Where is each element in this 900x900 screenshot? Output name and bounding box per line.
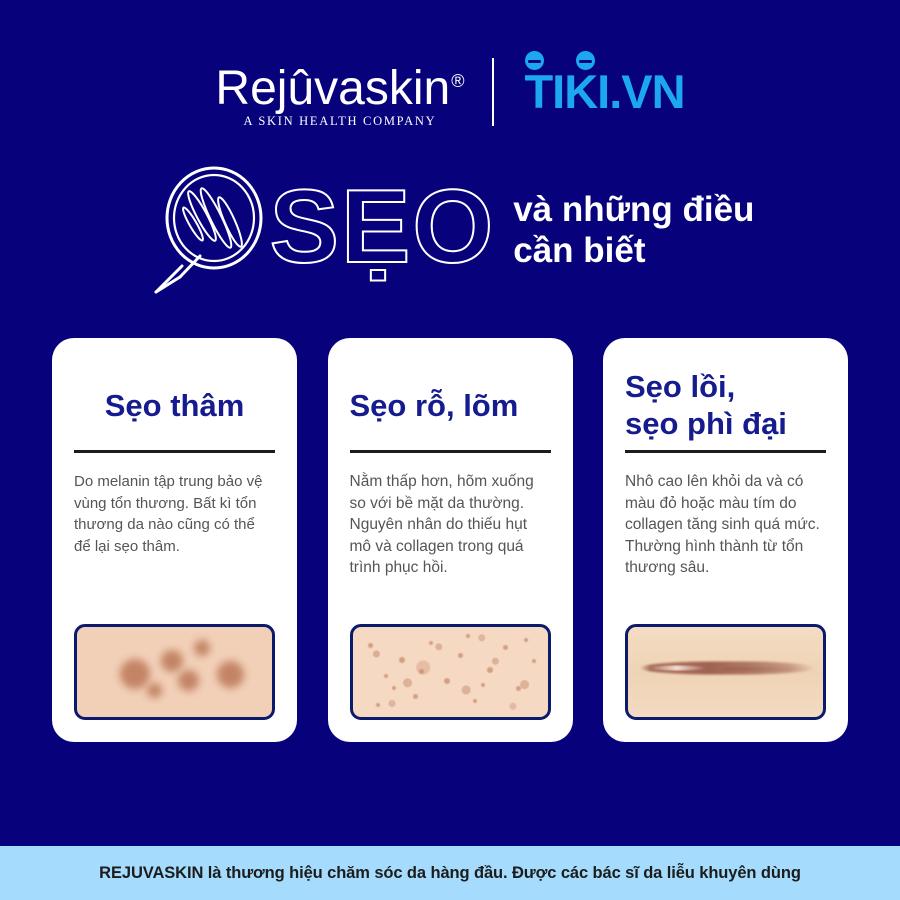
scar-card-dark-spot[interactable]: Sẹo thâm Do melanin tập trung bảo vệ vùn… (52, 338, 297, 742)
registered-trademark-icon: ® (451, 71, 464, 91)
card-title: Sẹo rỗ, lõm (350, 364, 551, 446)
pitted-texture (353, 627, 548, 717)
card-divider (74, 450, 275, 453)
magnifying-glass-icon (146, 166, 264, 294)
card-body-text: Nằm thấp hơn, hõm xuống so với bề mặt da… (350, 471, 551, 624)
card-image-keloid-scar (625, 624, 826, 720)
tiki-wordmark: TIKI.VN (524, 67, 684, 117)
rejuvaskin-tagline: A SKIN HEALTH COMPANY (215, 114, 464, 129)
logo-row: Rejûvaskin® A SKIN HEALTH COMPANY TIKI.V… (0, 42, 900, 142)
card-divider (625, 450, 826, 453)
headline-subtitle-line1: và những điều (513, 189, 754, 230)
card-title-line2: sẹo phì đại (625, 405, 787, 442)
infographic-page: Rejûvaskin® A SKIN HEALTH COMPANY TIKI.V… (0, 0, 900, 900)
card-divider (350, 450, 551, 453)
scar-highlight (648, 666, 707, 671)
headline-subtitle-line2: cần biết (513, 230, 754, 271)
headline-keyword: SẸO (270, 175, 496, 279)
card-title: Sẹo lồi, sẹo phì đại (625, 364, 826, 446)
card-image-dark-spot-scar (74, 624, 275, 720)
footer-text: REJUVASKIN là thương hiệu chăm sóc da hà… (99, 864, 801, 883)
card-title-line1: Sẹo lồi, (625, 368, 787, 405)
scar-card-atrophic[interactable]: Sẹo rỗ, lõm Nằm thấp hơn, hõm xuống so v… (328, 338, 573, 742)
scar-type-card-list: Sẹo thâm Do melanin tập trung bảo vệ vùn… (52, 338, 848, 742)
headline-subtitle: và những điều cần biết (513, 189, 754, 271)
footer-banner: REJUVASKIN là thương hiệu chăm sóc da hà… (0, 846, 900, 900)
scar-tail (722, 667, 814, 671)
rejuvaskin-logo: Rejûvaskin® A SKIN HEALTH COMPANY (215, 55, 492, 129)
tiki-logo: TIKI.VN (520, 67, 684, 117)
rejuvaskin-wordmark: Rejûvaskin® (215, 55, 464, 115)
headline-block: SẸO và những điều cần biết (0, 160, 900, 300)
card-body-text: Do melanin tập trung bảo vệ vùng tổn thư… (74, 471, 275, 624)
scar-card-keloid[interactable]: Sẹo lồi, sẹo phì đại Nhô cao lên khỏi da… (603, 338, 848, 742)
card-body-text: Nhô cao lên khỏi da và có màu đỏ hoặc mà… (625, 471, 826, 624)
logo-divider (492, 58, 494, 126)
rejuvaskin-name: Rejûvaskin (215, 62, 450, 115)
card-title: Sẹo thâm (74, 364, 275, 446)
card-image-pitted-scar (350, 624, 551, 720)
